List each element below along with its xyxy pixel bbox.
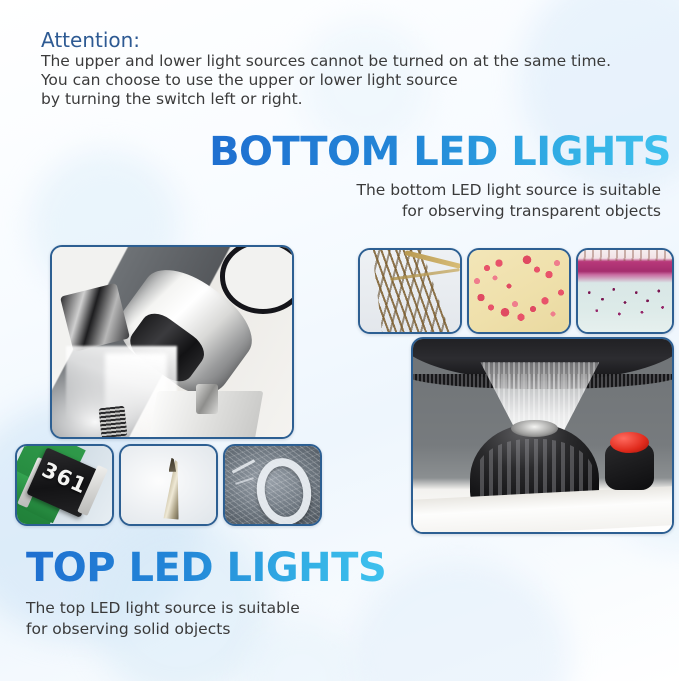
top-subtitle-line-1: The top LED light source is suitable [26, 598, 300, 619]
microscope-objective-photo [50, 245, 294, 439]
specimen-thumb-blood-cells [467, 248, 571, 334]
solid-thumb-needle-tip [119, 444, 218, 526]
attention-heading: Attention: [41, 28, 140, 52]
coin-surface-art [225, 446, 320, 524]
stage-clip [60, 283, 130, 352]
switch-knob-red-cap [610, 432, 649, 453]
objective-photo-art [52, 247, 292, 437]
attention-line-2: You can choose to use the upper or lower… [41, 71, 458, 90]
bottom-led-lights-title: BOTTOM LED LIGHTS [209, 129, 671, 175]
plant-bristles-art [360, 250, 460, 332]
attention-line-3: by turning the switch left or right. [41, 90, 303, 109]
top-led-lights-subtitle: The top LED light source is suitable for… [26, 598, 300, 640]
bottom-subtitle-line-2: for observing transparent objects [357, 201, 661, 222]
smd-resistor-art: 361 [17, 446, 112, 524]
solid-thumb-coin-surface [223, 444, 322, 526]
top-led-lights-title: TOP LED LIGHTS [26, 545, 386, 591]
stage-screw [196, 384, 218, 414]
attention-line-1: The upper and lower light sources cannot… [41, 52, 611, 71]
specimen-thumb-plant-bristles [358, 248, 462, 334]
bottom-subtitle-line-1: The bottom LED light source is suitable [357, 180, 661, 201]
top-subtitle-line-2: for observing solid objects [26, 619, 300, 640]
tissue-nuclei [578, 250, 672, 332]
bottom-led-dome-photo [411, 337, 674, 534]
solid-thumb-smd-resistor: 361 [15, 444, 114, 526]
microscope-base-deck [411, 486, 674, 534]
focus-spring [98, 405, 127, 438]
tissue-section-art [578, 250, 672, 332]
dome-photo-art [413, 339, 672, 532]
needle-tip-art [121, 446, 216, 524]
bottom-led-lights-subtitle: The bottom LED light source is suitable … [357, 180, 661, 222]
specimen-thumb-tissue-section [576, 248, 674, 334]
blood-cells-art [469, 250, 569, 332]
